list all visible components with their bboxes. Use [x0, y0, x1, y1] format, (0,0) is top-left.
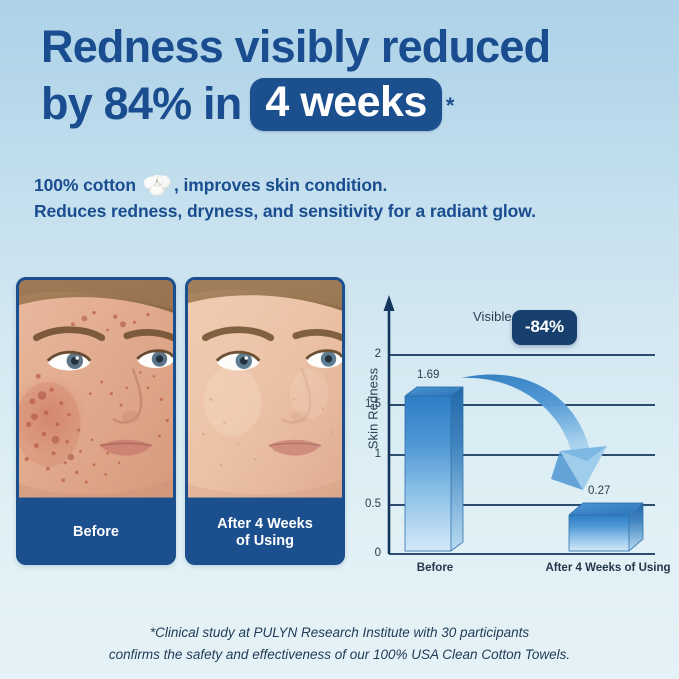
before-skin-photo: [19, 280, 173, 506]
duration-pill-badge: 4 weeks: [250, 78, 441, 131]
footnote-line-2: confirms the safety and effectiveness of…: [0, 644, 679, 666]
before-card: Before: [16, 277, 176, 565]
bar-after: [569, 503, 643, 551]
chart-y-axis: [384, 295, 395, 554]
y-tick-1: 1: [357, 448, 381, 460]
after-card: After 4 Weeks of Using: [185, 277, 345, 565]
after-caption-line-1: After 4 Weeks: [217, 516, 313, 532]
cotton-boll-icon: [142, 172, 172, 198]
headline-line-1: Redness visibly reduced: [41, 22, 651, 72]
x-category-before: Before: [393, 562, 477, 574]
bar-value-before: 1.69: [417, 369, 439, 381]
footnote-disclaimer: *Clinical study at PULYN Research Instit…: [0, 622, 679, 666]
reduction-badge: -84%: [512, 310, 577, 345]
y-tick-0.5: 0.5: [357, 498, 381, 510]
subtitle-block: 100% cotton: [34, 172, 654, 224]
after-skin-photo: [188, 280, 342, 506]
y-tick-2: 2: [357, 348, 381, 360]
before-card-caption: Before: [19, 503, 173, 562]
bar-before: [405, 387, 467, 551]
headline-line-2-text: by 84% in: [41, 79, 241, 129]
asterisk-marker: *: [446, 81, 454, 131]
y-tick-1.5: 1.5: [357, 398, 381, 410]
x-category-after: After 4 Weeks of Using: [543, 562, 673, 574]
infographic-root: Redness visibly reduced by 84% in 4 week…: [0, 0, 679, 679]
after-card-caption: After 4 Weeks of Using: [188, 503, 342, 562]
decline-arrow: [461, 374, 607, 490]
subtitle-line-1-post: , improves skin condition.: [174, 172, 387, 198]
footnote-line-1: *Clinical study at PULYN Research Instit…: [0, 622, 679, 644]
redness-bar-chart: Visible Redness Skin Redness 0 0.5 1 1.5…: [355, 283, 673, 578]
comparison-cards: Before: [16, 277, 345, 565]
headline-line-2: by 84% in 4 weeks *: [41, 77, 651, 131]
bar-value-after: 0.27: [588, 485, 610, 497]
headline-block: Redness visibly reduced by 84% in 4 week…: [41, 22, 651, 131]
after-caption-line-2: of Using: [236, 533, 294, 549]
y-tick-0: 0: [357, 547, 381, 559]
subtitle-line-1-pre: 100% cotton: [34, 172, 136, 198]
subtitle-line-1: 100% cotton: [34, 172, 654, 198]
subtitle-line-2: Reduces redness, dryness, and sensitivit…: [34, 198, 654, 224]
